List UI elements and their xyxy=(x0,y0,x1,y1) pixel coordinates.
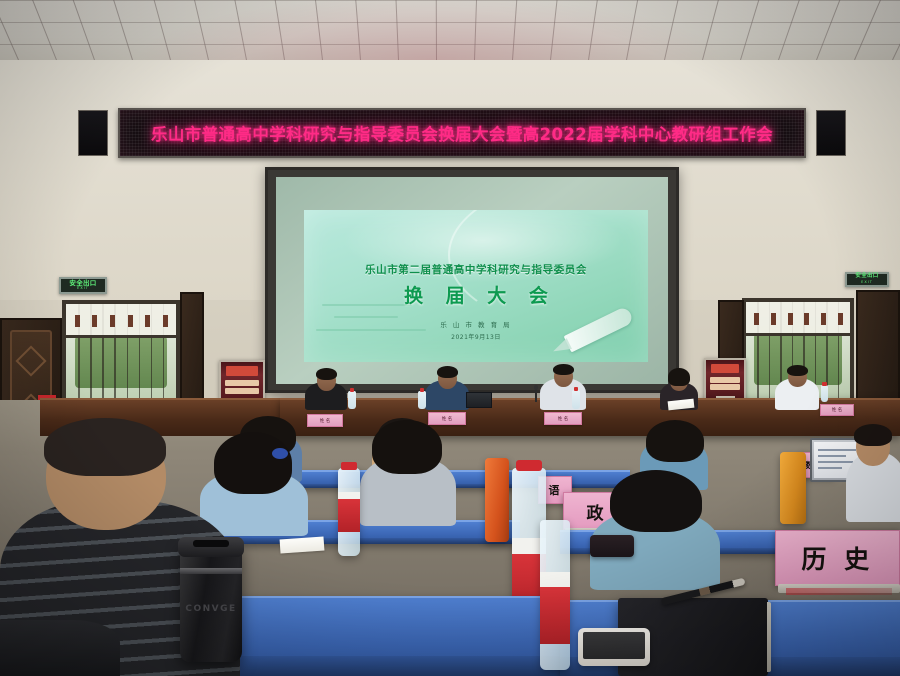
laptop-head-table[interactable] xyxy=(466,392,492,408)
laptop-text-line xyxy=(818,449,856,451)
mug-band xyxy=(180,568,242,574)
smartphone-white[interactable] xyxy=(578,628,650,666)
led-banner-text: 乐山市普通高中学科研究与指导委员会换届大会暨高2022届学科中心教研组工作会 xyxy=(151,121,773,145)
smartphone-dark[interactable] xyxy=(590,535,634,557)
water-bottle-head-3 xyxy=(572,390,580,409)
bottle-label xyxy=(338,498,360,532)
subject-card-history-label: 历 史 xyxy=(801,540,873,576)
audience-hair-striped-shirt xyxy=(44,418,166,476)
fire-cabinet-strip xyxy=(225,388,259,394)
transom-decoration xyxy=(838,313,843,325)
fire-cabinet-label xyxy=(226,366,258,376)
mug-drink-slot xyxy=(193,540,230,547)
window-transom xyxy=(746,302,850,336)
phone-screen xyxy=(583,632,645,659)
head-table-person-2-hair xyxy=(437,366,458,378)
head-table-person-1-hair xyxy=(316,368,337,380)
fire-cabinet-strip xyxy=(710,384,740,390)
slide-title-line2: 换 届 大 会 xyxy=(304,281,648,308)
bottle-label-white xyxy=(540,572,570,587)
transom-decoration xyxy=(92,315,97,327)
head-table-placard-1: 姓 名 xyxy=(307,414,343,427)
subject-card-chinese-label: 语 xyxy=(549,482,562,498)
travel-mug[interactable]: CONVGE xyxy=(180,542,242,662)
bottle-cap-mid-2 xyxy=(516,460,542,471)
transom-decoration xyxy=(804,313,809,325)
ceiling-led-glow xyxy=(0,0,900,62)
microphone-head-table xyxy=(535,388,537,402)
fire-cabinet-strip xyxy=(225,380,259,386)
suspended-ceiling xyxy=(0,0,900,62)
water-bottle-mid-1 xyxy=(338,468,360,556)
transom-decoration xyxy=(128,315,133,327)
speaker-right xyxy=(816,110,846,156)
water-bottle-head-1 xyxy=(348,391,356,409)
card-stand-reflection xyxy=(786,588,892,595)
bottle-label xyxy=(540,586,570,644)
transom-decoration xyxy=(788,313,793,325)
bottle-label-white xyxy=(338,492,360,499)
water-bottle-head-5 xyxy=(821,385,828,402)
presentation-slide: 乐山市第二届普通高中学科研究与指导委员会 换 届 大 会 乐 山 市 教 育 局… xyxy=(304,210,648,362)
thermos-orange xyxy=(485,458,509,542)
transom-decoration xyxy=(821,313,826,325)
slide-organization: 乐 山 市 教 育 局 xyxy=(304,319,648,329)
mug-brand-text: CONVGE xyxy=(180,604,242,614)
bottle-cap xyxy=(350,388,355,392)
head-table-placard-2: 姓 名 xyxy=(428,412,466,425)
bottle-cap xyxy=(822,382,826,386)
head-table-person-3-hair xyxy=(553,364,574,375)
slide-date: 2021年9月13日 xyxy=(304,332,648,341)
subject-card-history: 历 史 xyxy=(775,530,900,586)
projection-surface: 乐山市第二届普通高中学科研究与指导委员会 换 届 大 会 乐 山 市 教 育 局… xyxy=(276,177,668,384)
transom-decoration xyxy=(163,315,168,327)
water-bottle-head-2 xyxy=(418,391,426,409)
transom-decoration xyxy=(145,315,150,327)
head-table-person-4-hair xyxy=(668,368,690,386)
transom-decoration xyxy=(110,315,115,327)
exit-sign-left: 安全出口 EXIT xyxy=(59,277,107,294)
audience-hair-far-3 xyxy=(646,420,704,462)
laptop-text-line xyxy=(818,467,842,469)
audience-person-left-arm xyxy=(0,620,120,676)
head-table-placard-5: 姓 名 xyxy=(820,404,854,416)
water-bottle-foreground xyxy=(540,520,570,670)
led-banner: 乐山市普通高中学科研究与指导委员会换届大会暨高2022届学科中心教研组工作会 xyxy=(78,108,846,158)
transom-decoration xyxy=(754,313,759,325)
transom-decoration xyxy=(75,315,80,327)
thermos-flask xyxy=(780,452,806,524)
transom-decoration xyxy=(771,313,776,325)
mug-lid[interactable] xyxy=(178,537,244,557)
laptop-text-line xyxy=(818,455,846,457)
bottle-cap-mid-1 xyxy=(341,462,357,470)
exit-sign-label-en: EXIT xyxy=(77,286,89,291)
exit-sign-label-en: EXIT xyxy=(861,280,873,285)
notebook-page-edge xyxy=(767,602,771,672)
exit-sign-right: 安全出口 EXIT xyxy=(845,272,889,287)
audience-hair-mid-2 xyxy=(372,420,442,474)
conference-hall-photo: 安全出口 EXIT 安全出口 EXIT 乐山市普通高中学科研究与指导委员会换届大… xyxy=(0,0,900,676)
fire-cabinet-label xyxy=(711,364,740,373)
laptop-text-line xyxy=(818,461,853,463)
audience-hair-blue-shirt xyxy=(610,470,702,532)
hair-tie-blue xyxy=(272,448,288,459)
projection-screen: 乐山市第二届普通高中学科研究与指导委员会 换 届 大 会 乐 山 市 教 育 局… xyxy=(265,167,679,393)
head-table-placard-3: 姓 名 xyxy=(544,412,582,425)
bottle-cap xyxy=(574,387,579,391)
led-display-board: 乐山市普通高中学科研究与指导委员会换届大会暨高2022届学科中心教研组工作会 xyxy=(118,108,806,158)
head-table-person-5-hair xyxy=(787,365,808,376)
speaker-left xyxy=(78,110,108,156)
audience-hair-laptop-user xyxy=(854,424,892,446)
audience-hair-mid-woman xyxy=(214,432,292,494)
slide-title-line1: 乐山市第二届普通高中学科研究与指导委员会 xyxy=(304,262,648,277)
fire-cabinet-strip xyxy=(710,377,740,383)
bottle-cap xyxy=(420,388,425,392)
window-transom xyxy=(66,304,176,338)
